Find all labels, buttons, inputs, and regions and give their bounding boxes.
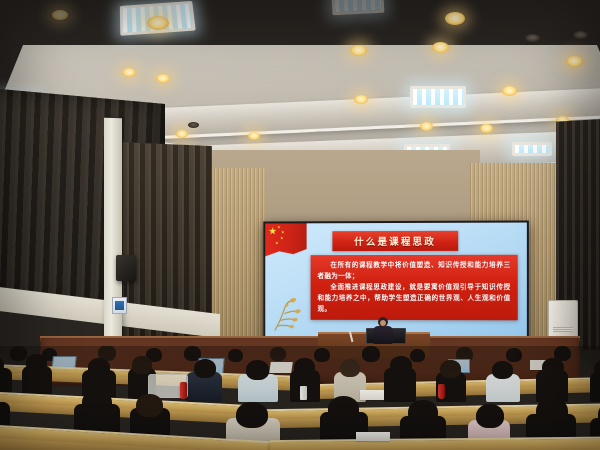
audience-area bbox=[0, 346, 600, 450]
slide-body-line: 全面推进课程思政建设，就是要寓价值观引导于知识传授和能力培养之中，帮助学生塑造正… bbox=[317, 282, 510, 315]
projection-screen[interactable]: ★ ★ ★ ★ ★ bbox=[263, 220, 529, 343]
attendee-head bbox=[390, 356, 412, 375]
downlight-icon bbox=[432, 42, 449, 53]
slide-title: 什么是课程思政 bbox=[332, 231, 458, 251]
tumbler-icon bbox=[300, 386, 307, 400]
attendee-head bbox=[408, 400, 438, 425]
presenter-torso bbox=[373, 326, 393, 344]
attendee-head bbox=[506, 348, 522, 362]
loudspeaker-icon bbox=[116, 255, 136, 281]
downlight-icon bbox=[248, 132, 260, 140]
flag-star-icon: ★ bbox=[280, 236, 284, 240]
attendee-head bbox=[542, 358, 564, 377]
china-flag-icon: ★ ★ ★ ★ ★ bbox=[265, 223, 306, 259]
thermos-icon bbox=[438, 384, 445, 399]
papers bbox=[360, 390, 384, 400]
presenter bbox=[372, 317, 394, 343]
flag-star-icon: ★ bbox=[281, 230, 285, 234]
attendee-head bbox=[492, 361, 513, 379]
slide-body: 在所有的课程教学中将价值塑造、知识传授和能力培养三者融为一体； 全面推进课程思政… bbox=[311, 255, 518, 321]
slide-body-line: 在所有的课程教学中将价值塑造、知识传授和能力培养三者融为一体； bbox=[317, 260, 510, 282]
attendee-head bbox=[328, 396, 359, 422]
presenter-face bbox=[380, 320, 386, 326]
papers bbox=[269, 362, 293, 373]
wall-pillar bbox=[104, 118, 122, 350]
attendee-head bbox=[10, 346, 27, 361]
downlight-icon bbox=[502, 86, 517, 96]
downlight-icon bbox=[156, 74, 170, 83]
attendee-head bbox=[294, 358, 315, 376]
downlight-icon bbox=[52, 10, 68, 20]
attendee-head bbox=[536, 398, 568, 424]
wall-sign bbox=[112, 297, 127, 314]
panel-light-icon bbox=[332, 0, 385, 15]
downlight-icon bbox=[420, 122, 433, 131]
attendee-head bbox=[410, 349, 425, 362]
panel-light-icon bbox=[410, 86, 466, 108]
ceiling-vent-icon bbox=[573, 31, 588, 39]
downlight-icon bbox=[147, 16, 169, 30]
attendee-head bbox=[236, 402, 268, 428]
papers bbox=[356, 432, 390, 441]
flag-star-icon: ★ bbox=[268, 227, 277, 237]
attendee-head bbox=[132, 356, 152, 374]
panel-light-icon bbox=[512, 142, 552, 156]
downlight-icon bbox=[350, 45, 367, 56]
attendee-head bbox=[440, 360, 461, 378]
downlight-icon bbox=[122, 68, 136, 77]
attendee-head bbox=[194, 359, 216, 378]
downlight-icon bbox=[354, 95, 368, 104]
attendee-head bbox=[246, 360, 269, 380]
downlight-icon bbox=[176, 130, 188, 138]
attendee-head bbox=[88, 358, 110, 377]
presentation-slide: ★ ★ ★ ★ ★ bbox=[265, 223, 527, 342]
attendee-head bbox=[314, 348, 330, 362]
downlight-icon bbox=[480, 124, 493, 133]
attendee-head bbox=[476, 404, 504, 428]
attendee-head bbox=[228, 349, 243, 362]
attendee-head bbox=[136, 394, 163, 417]
ceiling-vent-icon bbox=[188, 122, 199, 128]
attendee-head bbox=[82, 390, 112, 415]
attendee-head bbox=[340, 359, 360, 377]
attendee-head bbox=[270, 347, 286, 361]
attendee-head bbox=[362, 346, 380, 362]
ceiling-vent-icon bbox=[525, 34, 540, 42]
lecture-hall-photo: ★ ★ ★ ★ ★ bbox=[0, 0, 600, 450]
gold-ornament-icon bbox=[268, 295, 309, 335]
downlight-icon bbox=[445, 12, 465, 25]
downlight-icon bbox=[566, 56, 583, 67]
thermos-icon bbox=[180, 382, 187, 399]
attendee-head bbox=[26, 354, 47, 372]
flag-star-icon: ★ bbox=[275, 241, 279, 245]
